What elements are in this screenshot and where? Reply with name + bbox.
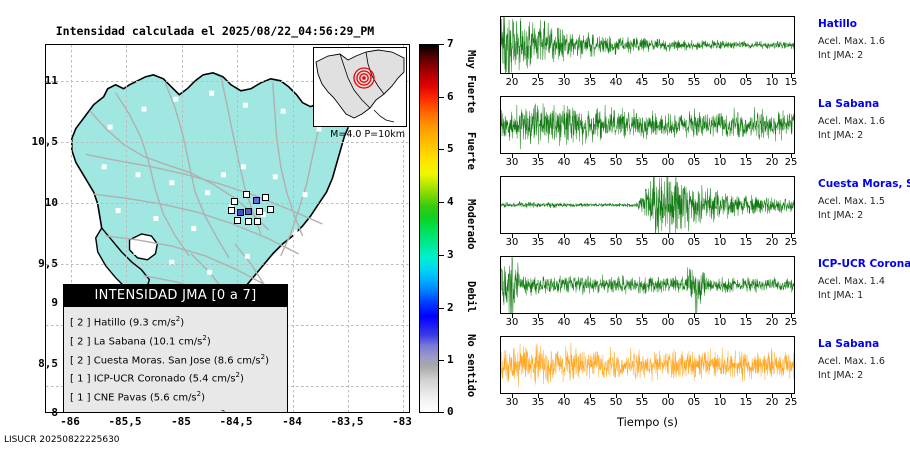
legend-row: [ 2 ] Cuesta Moras. San Jose (8.6 cm/s2) xyxy=(70,350,281,369)
axis-tick-label: 45 xyxy=(578,157,602,168)
legend-close: ) xyxy=(240,374,244,385)
station-marker[interactable] xyxy=(245,208,252,215)
legend-station: Cuesta Moras. San Jose xyxy=(94,355,211,366)
axis-tick-label: 40 xyxy=(552,397,576,408)
seismogram-block: 20 25 30 35 40 45 50 55 00 05 10 15 Hati… xyxy=(500,16,795,92)
axis-tick-label: 35 xyxy=(526,317,550,328)
legend-station: Teatro Nacional xyxy=(94,411,171,413)
seismogram-block: 30 35 40 45 50 55 00 05 10 15 20 25 La S… xyxy=(500,96,795,172)
colorbar-category-label: No sentido xyxy=(465,334,477,397)
axis-tick-label: 00 xyxy=(656,317,680,328)
axis-tick-label: 15 xyxy=(734,237,758,248)
station-info: La Sabana Acel. Max. 1.6 Int JMA: 2 xyxy=(818,338,910,381)
lon-tick-label: -84,5 xyxy=(206,415,266,428)
axis-tick-label: 30 xyxy=(500,157,524,168)
axis-tick-label: 55 xyxy=(630,397,654,408)
axis-tick-label: 45 xyxy=(578,317,602,328)
legend-close: ) xyxy=(225,411,229,413)
axis-tick-label: 25 xyxy=(779,157,803,168)
seismogram-panel: 20 25 30 35 40 45 50 55 00 05 10 15 Hati… xyxy=(485,0,910,460)
legend-station: Hatillo xyxy=(94,317,126,328)
x-axis-label: Tiempo (s) xyxy=(500,415,795,429)
legend-row: [ 1 ] ICP-UCR Coronado (5.4 cm/s2) xyxy=(70,368,281,387)
lon-tick-label: -86 xyxy=(40,415,100,428)
colorbar-gradient xyxy=(419,44,439,413)
inset-map-graphic xyxy=(314,48,406,126)
colorbar-tick-label: 0 xyxy=(447,405,454,418)
time-axis: 20 25 30 35 40 45 50 55 00 05 10 15 xyxy=(500,74,795,92)
time-axis: 30 35 40 45 50 55 00 05 10 15 20 25 xyxy=(500,314,795,332)
lat-tick-label: 9 xyxy=(0,296,58,309)
station-accel: Acel. Max. 1.6 xyxy=(818,356,910,367)
map-gridline xyxy=(46,142,409,143)
axis-tick-label: 00 xyxy=(656,237,680,248)
station-info: Hatillo Acel. Max. 1.6 Int JMA: 2 xyxy=(818,18,910,61)
time-axis: 30 35 40 45 50 55 00 05 10 15 20 25 xyxy=(500,234,795,252)
station-marker[interactable] xyxy=(262,194,269,201)
station-accel: Acel. Max. 1.4 xyxy=(818,276,910,287)
colorbar-tick-label: 5 xyxy=(447,142,454,155)
legend-station: ICP-UCR Coronado xyxy=(94,374,186,385)
axis-tick-label: 25 xyxy=(526,77,550,88)
seismogram-block: 30 35 40 45 50 55 00 05 10 15 20 25 ICP-… xyxy=(500,256,795,332)
lon-tick-label: -83 xyxy=(372,415,432,428)
lon-tick-label: -84 xyxy=(262,415,322,428)
lon-tick-label: -85,5 xyxy=(95,415,155,428)
axis-tick-label: 15 xyxy=(734,317,758,328)
legend-level: [ 1 ] xyxy=(70,393,91,404)
station-intensity: Int JMA: 2 xyxy=(818,370,910,381)
intensity-colorbar: 7 6 5 4 3 2 1 0 Muy Fuerte Fuerte Modera… xyxy=(419,44,479,413)
lat-tick-label: 8,5 xyxy=(0,357,58,370)
legend-row: [ 2 ] Hatillo (9.3 cm/s2) xyxy=(70,312,281,331)
colorbar-category-label: Fuerte xyxy=(465,132,477,170)
station-accel: Acel. Max. 1.6 xyxy=(818,116,910,127)
colorbar-category-label: Moderado xyxy=(465,199,477,250)
colorbar-tick-label: 6 xyxy=(447,90,454,103)
axis-tick-label: 55 xyxy=(682,77,706,88)
legend-row: [ 2 ] La Sabana (10.1 cm/s2) xyxy=(70,331,281,350)
axis-tick-label: 50 xyxy=(604,157,628,168)
waveform-plot[interactable] xyxy=(500,256,795,314)
waveform-plot[interactable] xyxy=(500,336,795,394)
axis-tick-label: 35 xyxy=(578,77,602,88)
waveform-plot[interactable] xyxy=(500,16,795,74)
axis-tick-label: 55 xyxy=(630,157,654,168)
map-gridline xyxy=(293,45,294,412)
legend-level: [ 1 ] xyxy=(70,374,91,385)
station-accel: Acel. Max. 1.5 xyxy=(818,196,910,207)
colorbar-tick-label: 4 xyxy=(447,195,454,208)
axis-tick-label: 55 xyxy=(630,317,654,328)
legend-level: [ 2 ] xyxy=(70,336,91,347)
axis-tick-label: 45 xyxy=(630,77,654,88)
station-marker[interactable] xyxy=(237,209,244,216)
colorbar-tick-label: 3 xyxy=(447,248,454,261)
magnitude-depth-label: M=4.0 P=10km xyxy=(330,129,405,140)
colorbar-tick-label: 7 xyxy=(447,37,454,50)
epicenter-icon xyxy=(354,68,374,88)
legend-value: (8.6 cm/s xyxy=(214,355,261,366)
lon-tick-label: -83,5 xyxy=(317,415,377,428)
station-marker[interactable] xyxy=(243,191,250,198)
intensity-legend: INTENSIDAD JMA [0 a 7] [ 2 ] Hatillo (9.… xyxy=(63,284,288,413)
station-name: Hatillo xyxy=(818,18,910,30)
axis-tick-label: 10 xyxy=(708,237,732,248)
axis-tick-label: 50 xyxy=(604,397,628,408)
station-accel: Acel. Max. 1.6 xyxy=(818,36,910,47)
axis-tick-label: 20 xyxy=(500,77,524,88)
waveform-trace xyxy=(501,177,794,233)
station-marker[interactable] xyxy=(254,218,261,225)
axis-tick-label: 30 xyxy=(500,317,524,328)
axis-tick-label: 15 xyxy=(779,77,803,88)
axis-tick-label: 00 xyxy=(656,157,680,168)
axis-tick-label: 50 xyxy=(604,237,628,248)
colorbar-tick-label: 2 xyxy=(447,301,454,314)
legend-value: (9.3 cm/s xyxy=(129,317,176,328)
station-info: ICP-UCR Coronado Acel. Max. 1.4 Int JMA:… xyxy=(818,258,910,301)
waveform-trace xyxy=(501,337,794,393)
axis-tick-label: 30 xyxy=(500,237,524,248)
legend-station: La Sabana xyxy=(94,336,146,347)
axis-tick-label: 30 xyxy=(500,397,524,408)
station-info: Cuesta Moras, San Jose Acel. Max. 1.5 In… xyxy=(818,178,910,221)
axis-tick-label: 25 xyxy=(779,317,803,328)
lon-tick-label: -85 xyxy=(151,415,211,428)
footer-timestamp: LISUCR 20250822225630 xyxy=(4,435,120,445)
legend-value: (5.6 cm/s xyxy=(150,393,197,404)
axis-tick-label: 55 xyxy=(630,237,654,248)
axis-tick-label: 40 xyxy=(604,77,628,88)
axis-tick-label: 40 xyxy=(552,317,576,328)
axis-tick-label: 45 xyxy=(578,397,602,408)
axis-tick-label: 50 xyxy=(656,77,680,88)
lat-tick-label: 9,5 xyxy=(0,257,58,270)
axis-tick-label: 35 xyxy=(526,397,550,408)
axis-tick-label: 00 xyxy=(708,77,732,88)
station-intensity: Int JMA: 1 xyxy=(818,290,910,301)
axis-tick-label: 25 xyxy=(779,237,803,248)
station-intensity: Int JMA: 2 xyxy=(818,210,910,221)
legend-value: (5.4 cm/s xyxy=(189,374,236,385)
axis-tick-label: 45 xyxy=(578,237,602,248)
legend-row: [ 1 ] Teatro Nacional (5.3 cm/s2) xyxy=(70,406,281,413)
axis-tick-label: 40 xyxy=(552,157,576,168)
axis-tick-label: 35 xyxy=(526,237,550,248)
legend-value: (10.1 cm/s xyxy=(149,336,202,347)
waveform-plot[interactable] xyxy=(500,176,795,234)
colorbar-category-label: Muy Fuerte xyxy=(465,50,477,113)
station-name: Cuesta Moras, San Jose xyxy=(818,178,910,190)
colorbar-tick-label: 1 xyxy=(447,353,454,366)
station-info: La Sabana Acel. Max. 1.6 Int JMA: 2 xyxy=(818,98,910,141)
station-name: La Sabana xyxy=(818,338,910,350)
legend-close: ) xyxy=(207,336,211,347)
legend-level: [ 1 ] xyxy=(70,411,91,413)
legend-close: ) xyxy=(180,317,184,328)
axis-tick-label: 15 xyxy=(734,397,758,408)
station-marker[interactable] xyxy=(245,218,252,225)
axis-tick-label: 05 xyxy=(682,157,706,168)
station-marker[interactable] xyxy=(253,197,260,204)
axis-tick-label: 50 xyxy=(604,317,628,328)
legend-close: ) xyxy=(265,355,269,366)
location-inset-map xyxy=(313,47,407,127)
lat-tick-label: 10,5 xyxy=(0,135,58,148)
legend-station: CNE Pavas xyxy=(94,393,147,404)
lat-tick-label: 11 xyxy=(0,74,58,87)
waveform-plot[interactable] xyxy=(500,96,795,154)
legend-row: [ 1 ] CNE Pavas (5.6 cm/s2) xyxy=(70,387,281,406)
seismogram-block: 30 35 40 45 50 55 00 05 10 15 20 25 Cues… xyxy=(500,176,795,252)
legend-value: (5.3 cm/s xyxy=(174,411,221,413)
station-marker[interactable] xyxy=(234,217,241,224)
station-marker[interactable] xyxy=(228,207,235,214)
axis-tick-label: 30 xyxy=(552,77,576,88)
axis-tick-label: 05 xyxy=(682,237,706,248)
axis-tick-label: 00 xyxy=(656,397,680,408)
seismogram-block: 30 35 40 45 50 55 00 05 10 15 20 25 La S… xyxy=(500,336,795,412)
legend-level: [ 2 ] xyxy=(70,355,91,366)
station-marker[interactable] xyxy=(231,198,238,205)
lat-tick-label: 10 xyxy=(0,196,58,209)
map-gridline xyxy=(46,203,409,204)
intensity-map[interactable]: M=4.0 P=10km INTENSIDAD JMA [0 a 7] [ 2 … xyxy=(45,44,410,413)
waveform-trace xyxy=(501,17,794,73)
map-gridline xyxy=(46,264,409,265)
axis-tick-label: 10 xyxy=(708,157,732,168)
time-axis: 30 35 40 45 50 55 00 05 10 15 20 25 xyxy=(500,154,795,172)
axis-tick-label: 35 xyxy=(526,157,550,168)
legend-close: ) xyxy=(201,393,205,404)
axis-tick-label: 05 xyxy=(682,317,706,328)
station-intensity: Int JMA: 2 xyxy=(818,130,910,141)
waveform-trace xyxy=(501,257,794,313)
legend-rows: [ 2 ] Hatillo (9.3 cm/s2) [ 2 ] La Saban… xyxy=(64,307,287,413)
axis-tick-label: 05 xyxy=(682,397,706,408)
axis-tick-label: 15 xyxy=(734,157,758,168)
axis-tick-label: 10 xyxy=(708,397,732,408)
axis-tick-label: 25 xyxy=(779,397,803,408)
map-panel: Intensidad calculada el 2025/08/22_04:56… xyxy=(0,0,470,460)
station-name: La Sabana xyxy=(818,98,910,110)
page-title: Intensidad calculada el 2025/08/22_04:56… xyxy=(0,24,430,38)
axis-tick-label: 05 xyxy=(734,77,758,88)
legend-header: INTENSIDAD JMA [0 a 7] xyxy=(64,285,287,307)
station-name: ICP-UCR Coronado xyxy=(818,258,910,270)
legend-level: [ 2 ] xyxy=(70,317,91,328)
axis-tick-label: 40 xyxy=(552,237,576,248)
station-intensity: Int JMA: 2 xyxy=(818,50,910,61)
waveform-trace xyxy=(501,97,794,153)
station-marker[interactable] xyxy=(256,208,263,215)
axis-tick-label: 10 xyxy=(708,317,732,328)
time-axis: 30 35 40 45 50 55 00 05 10 15 20 25 xyxy=(500,394,795,412)
colorbar-category-label: Debil xyxy=(465,281,477,313)
station-marker[interactable] xyxy=(267,206,274,213)
